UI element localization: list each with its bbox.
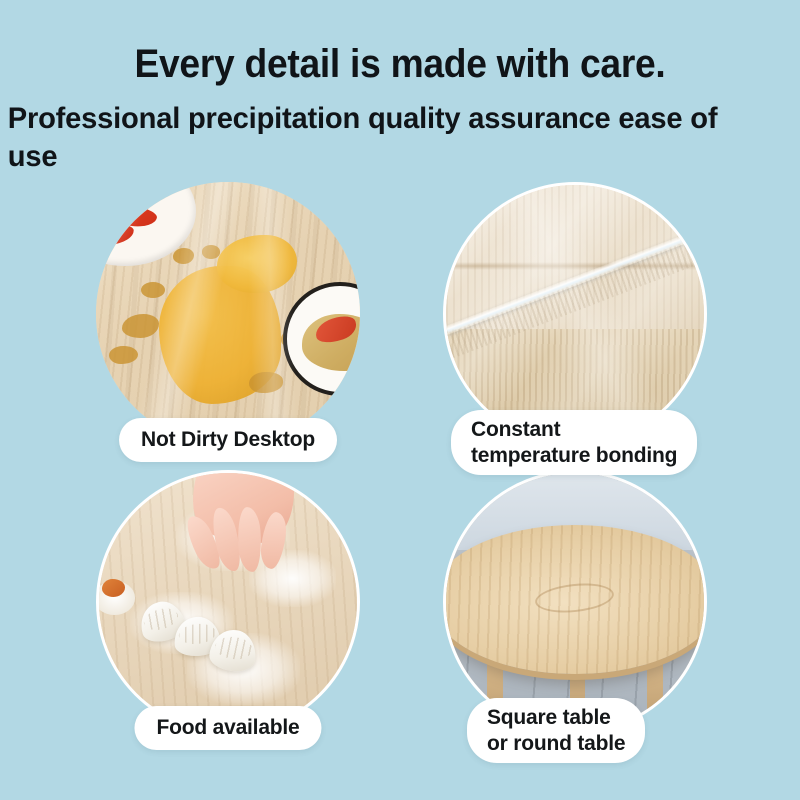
feature-photo-not-dirty-desktop bbox=[96, 182, 360, 446]
feature-caption-text: Food available bbox=[156, 715, 299, 741]
feature-photo-square-or-round-table bbox=[443, 470, 707, 734]
page-title: Every detail is made with care. bbox=[28, 0, 772, 84]
feature-card-constant-temperature-bonding: Constant temperature bonding bbox=[443, 182, 707, 446]
feature-grid: Not Dirty Desktop Constant temperature b… bbox=[0, 178, 800, 778]
feature-photo-constant-temperature-bonding bbox=[443, 182, 707, 446]
scene-film-bonding bbox=[446, 185, 704, 443]
feature-card-not-dirty-desktop: Not Dirty Desktop bbox=[96, 182, 360, 446]
sauce-droplet bbox=[202, 245, 220, 258]
feature-caption-pill: Constant temperature bonding bbox=[451, 410, 697, 475]
scene-round-table bbox=[446, 473, 704, 731]
feature-card-square-or-round-table: Square table or round table bbox=[443, 470, 707, 734]
wood-grain-knot bbox=[533, 580, 615, 616]
header-block: Every detail is made with care. Professi… bbox=[0, 0, 800, 177]
sauce-droplet bbox=[173, 248, 194, 264]
feature-card-food-available: Food available bbox=[96, 470, 360, 734]
dumpling-filling bbox=[102, 579, 125, 597]
feature-caption-line-2: or round table bbox=[487, 731, 625, 757]
feature-caption-text: Not Dirty Desktop bbox=[141, 427, 315, 453]
feature-caption-line-1: Square table bbox=[487, 705, 625, 731]
table-leg bbox=[647, 659, 662, 716]
feature-photo-food-available bbox=[96, 470, 360, 734]
feature-caption-line-1: Constant bbox=[471, 417, 677, 443]
feature-caption-pill: Food available bbox=[134, 706, 321, 750]
page-subtitle: Professional precipitation quality assur… bbox=[0, 84, 776, 177]
crawfish bbox=[96, 221, 135, 250]
feature-caption-line-2: temperature bonding bbox=[471, 443, 677, 469]
scene-spilled-sauce-table bbox=[96, 182, 360, 446]
feature-caption-pill: Not Dirty Desktop bbox=[119, 418, 337, 462]
sauce-droplet bbox=[141, 282, 165, 298]
feature-caption-pill: Square table or round table bbox=[467, 698, 645, 763]
round-table-top bbox=[443, 525, 707, 675]
scene-dumpling-making bbox=[99, 473, 357, 731]
